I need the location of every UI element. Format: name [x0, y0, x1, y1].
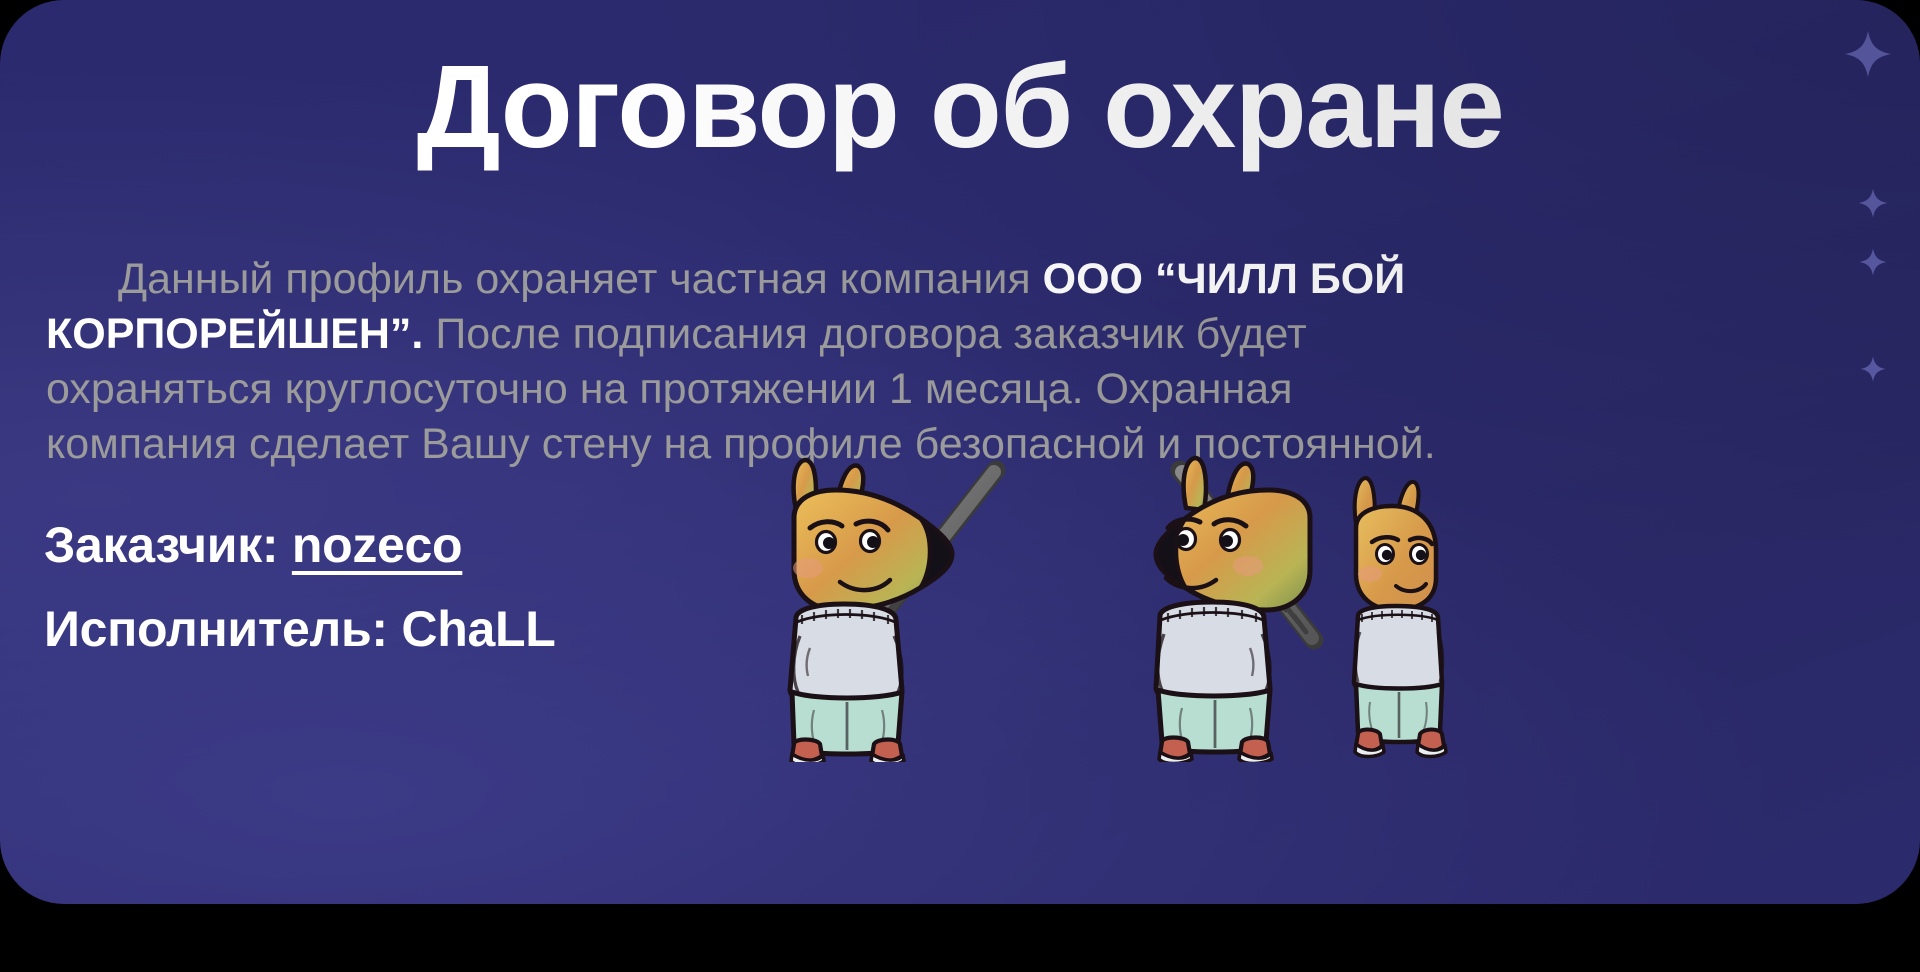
sparkle-large-icon: [1844, 30, 1892, 78]
party-customer: Заказчик: nozeco: [44, 516, 462, 574]
customer-label: Заказчик:: [44, 517, 278, 573]
executor-label: Исполнитель:: [44, 601, 388, 657]
screenshot-root: Договор об охране Данный профиль охраняе…: [0, 0, 1920, 972]
sparkle-small-icon: [1859, 248, 1887, 276]
guard-dog-left: [744, 452, 1064, 762]
sparkle-tiny-icon: [1860, 356, 1886, 382]
sparkle-medium-icon: [1858, 188, 1888, 218]
executor-value: ChaLL: [401, 601, 555, 657]
body-lead: Данный профиль охраняет частная компания: [118, 255, 1031, 303]
guard-dog-right: [1146, 452, 1466, 762]
customer-value-link[interactable]: nozeco: [292, 517, 462, 573]
page-title: Договор об охране: [0, 46, 1920, 170]
contract-card: Договор об охране Данный профиль охраняе…: [0, 0, 1920, 904]
contract-body-text: Данный профиль охраняет частная компания…: [46, 252, 1466, 472]
party-executor: Исполнитель: ChaLL: [44, 600, 555, 658]
